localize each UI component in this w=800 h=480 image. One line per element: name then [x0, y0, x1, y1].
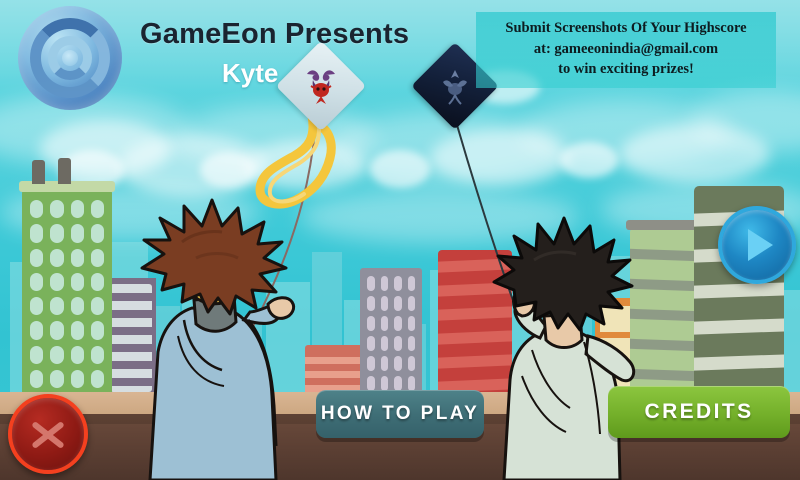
boy-brown-hair [126, 196, 326, 480]
page-title: GameEon Presents [140, 18, 409, 51]
how-to-play-button[interactable]: HOW TO PLAY [316, 390, 484, 438]
close-button[interactable] [8, 394, 88, 474]
game-subtitle: Kyte [222, 58, 278, 89]
promo-line-2: at: gameeonindia@gmail.com [482, 39, 770, 60]
credits-button[interactable]: CREDITS [608, 386, 790, 438]
boy-black-hair [488, 216, 678, 480]
promo-line-1: Submit Screenshots Of Your Highscore [482, 18, 770, 39]
play-icon [748, 229, 773, 261]
promo-line-3: to win exciting prizes! [482, 59, 770, 80]
promo-banner: Submit Screenshots Of Your Highscore at:… [476, 12, 776, 88]
play-button[interactable] [718, 206, 796, 284]
building-green-left [22, 190, 112, 398]
close-icon [29, 415, 67, 453]
game-title-screen: GameEon Presents Kyte Submit Screenshots… [0, 0, 800, 480]
building-grey-center [360, 268, 422, 399]
gameeon-logo-icon [18, 6, 122, 110]
